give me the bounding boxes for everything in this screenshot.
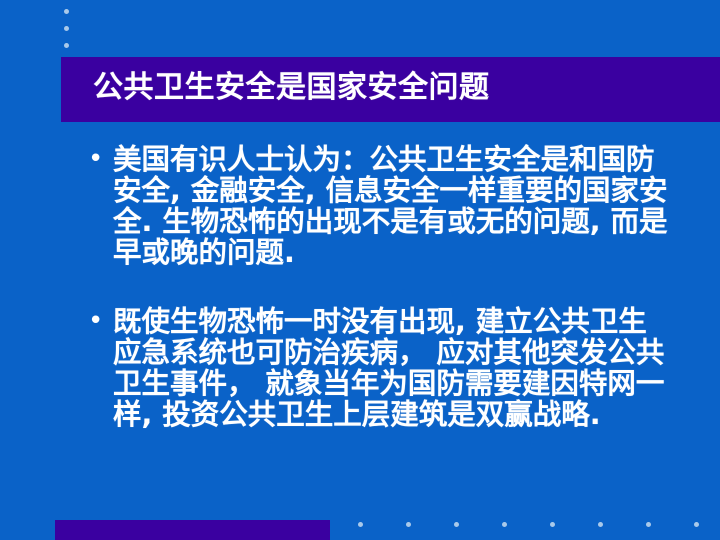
list-item: • 美国有识人士认为：公共卫生安全是和国防安全, 金融安全, 信息安全一样重要的… <box>88 144 668 268</box>
decorative-dot <box>646 522 651 527</box>
bullet-text: 既使生物恐怖一时没有出现, 建立公共卫生应急系统也可防治疾病， 应对其他突发公共… <box>113 306 668 430</box>
bullet-text: 美国有识人士认为：公共卫生安全是和国防安全, 金融安全, 信息安全一样重要的国家… <box>113 144 668 268</box>
footer-accent-bar <box>55 520 330 540</box>
title-banner: 公共卫生安全是国家安全问题 <box>61 57 720 122</box>
decorative-dot <box>550 522 555 527</box>
bullet-marker-icon: • <box>88 144 113 175</box>
slide-canvas: 公共卫生安全是国家安全问题 • 美国有识人士认为：公共卫生安全是和国防安全, 金… <box>0 0 720 540</box>
decorative-dot <box>64 43 69 48</box>
decorative-dot <box>64 9 69 14</box>
decorative-dot <box>454 522 459 527</box>
decorative-dot <box>64 26 69 31</box>
page-title: 公共卫生安全是国家安全问题 <box>93 69 490 107</box>
decorative-dot <box>598 522 603 527</box>
decorative-dot-row <box>358 522 720 532</box>
decorative-dot <box>694 522 699 527</box>
bullet-marker-icon: • <box>88 306 113 337</box>
bullet-list: • 美国有识人士认为：公共卫生安全是和国防安全, 金融安全, 信息安全一样重要的… <box>88 144 668 468</box>
decorative-dot <box>358 522 363 527</box>
decorative-dot <box>406 522 411 527</box>
decorative-dot <box>502 522 507 527</box>
list-item: • 既使生物恐怖一时没有出现, 建立公共卫生应急系统也可防治疾病， 应对其他突发… <box>88 306 668 430</box>
decorative-dot-column <box>64 9 76 57</box>
